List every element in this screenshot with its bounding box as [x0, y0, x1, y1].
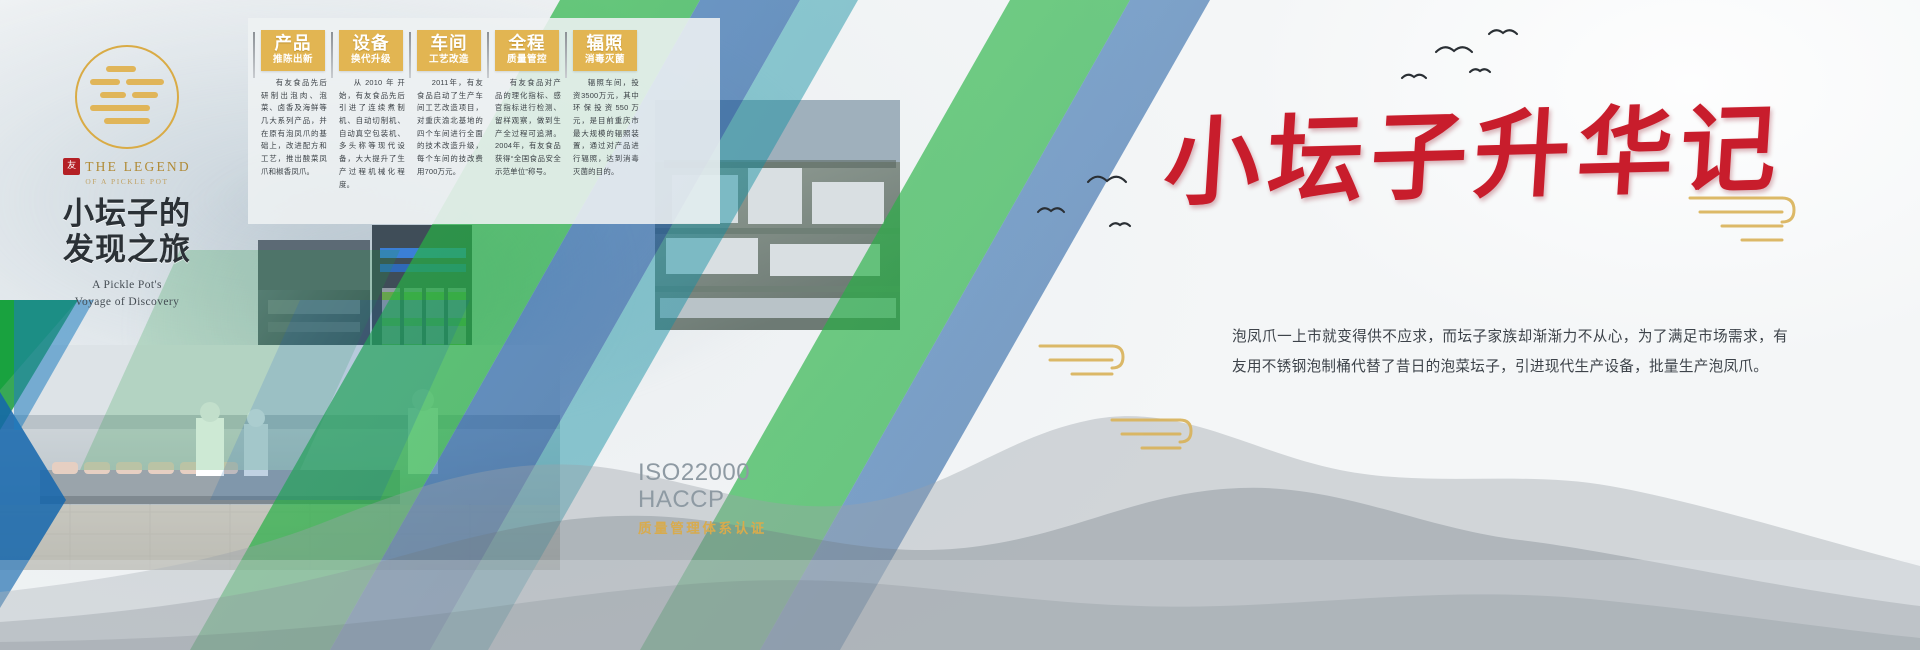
info-column-product: 产品 推陈出新 有友食品先后研制出泡肉、泡菜、卤香及海鲜等几大系列产品，并在原有… — [253, 30, 331, 191]
column-heading: 全程 — [495, 34, 559, 53]
certification-standard-haccp: HACCP — [638, 487, 767, 514]
column-body-text: 有友食品对产品的理化指标、感官指标进行检测、留样观察，做到生产全过程可追溯。20… — [495, 77, 561, 179]
column-subheading: 工艺改造 — [417, 54, 481, 66]
column-header-badge: 全程 质量管控 — [495, 30, 559, 71]
info-column-workshop: 车间 工艺改造 2011年，有友食品启动了生产车间工艺改造项目，对重庆渝北基地的… — [409, 30, 487, 191]
info-columns: 产品 推陈出新 有友食品先后研制出泡肉、泡菜、卤香及海鲜等几大系列产品，并在原有… — [253, 30, 643, 191]
brand-seal-icon: 友 — [63, 158, 80, 175]
certification-caption: 质量管理体系认证 — [638, 517, 767, 537]
column-heading: 产品 — [261, 34, 325, 53]
column-rule — [409, 32, 411, 78]
gold-cloud-swirl-icon-2 — [1040, 346, 1123, 374]
column-subheading: 换代升级 — [339, 54, 403, 66]
page-title-en-line2: Voyage of Discovery — [22, 294, 232, 311]
page-title-cn: 小坛子的 发现之旅 — [22, 196, 232, 268]
column-rule — [331, 32, 333, 78]
column-body-text: 从2010年开始，有友食品先后引进了连续煮制机、自动切制机、自动真空包装机、多头… — [339, 77, 405, 192]
column-subheading: 质量管控 — [495, 54, 559, 66]
column-heading: 设备 — [339, 34, 403, 53]
page-title-cn-line2: 发现之旅 — [22, 232, 232, 268]
legend-en-text: THE LEGEND — [85, 159, 191, 175]
column-body-text: 2011年，有友食品启动了生产车间工艺改造项目，对重庆渝北基地的四个车间进行全面… — [417, 77, 483, 179]
page-title-cn-line1: 小坛子的 — [63, 196, 191, 231]
column-heading: 辐照 — [573, 34, 637, 53]
column-rule — [253, 32, 255, 78]
column-body-text: 有友食品先后研制出泡肉、泡菜、卤香及海鲜等几大系列产品，并在原有泡凤爪的基础上，… — [261, 77, 327, 179]
page-title-en: A Pickle Pot's Voyage of Discovery — [22, 277, 232, 310]
certification-standard-iso: ISO22000 — [638, 460, 767, 487]
column-subheading: 推陈出新 — [261, 54, 325, 66]
info-column-equipment: 设备 换代升级 从2010年开始，有友食品先后引进了连续煮制机、自动切制机、自动… — [331, 30, 409, 191]
pickle-pot-seal-logo — [75, 45, 179, 149]
column-header-badge: 车间 工艺改造 — [417, 30, 481, 71]
column-header-badge: 设备 换代升级 — [339, 30, 403, 71]
column-heading: 车间 — [417, 34, 481, 53]
info-column-quality: 全程 质量管控 有友食品对产品的理化指标、感官指标进行检测、留样观察，做到生产全… — [487, 30, 565, 191]
certification-block: ISO22000 HACCP 质量管理体系认证 — [638, 460, 767, 537]
column-body-text: 辐照车间，投资3500万元，其中环保投资550万元，是目前重庆市最大规模的辐照装… — [573, 77, 639, 179]
column-rule — [487, 32, 489, 78]
column-header-badge: 辐照 消毒灭菌 — [573, 30, 637, 71]
brand-logo-block: 友 THE LEGEND OF A PICKLE POT 小坛子的 发现之旅 A… — [22, 45, 232, 310]
legend-wordmark: 友 THE LEGEND — [22, 158, 232, 175]
logo-bar-glyph — [88, 66, 166, 128]
info-column-irradiation: 辐照 消毒灭菌 辐照车间，投资3500万元，其中环保投资550万元，是目前重庆市… — [565, 30, 643, 191]
poster-canvas: 友 THE LEGEND OF A PICKLE POT 小坛子的 发现之旅 A… — [0, 0, 1920, 650]
column-header-badge: 产品 推陈出新 — [261, 30, 325, 71]
body-paragraph: 泡凤爪一上市就变得供不应求，而坛子家族却渐渐力不从心，为了满足市场需求，有友用不… — [1232, 322, 1788, 383]
headline-text: 小坛子升华记 — [1161, 100, 1786, 211]
headline-calligraphy: 小坛子升华记 — [1165, 108, 1805, 233]
column-subheading: 消毒灭菌 — [573, 54, 637, 66]
legend-sub-en-text: OF A PICKLE POT — [22, 177, 232, 186]
page-title-en-line1: A Pickle Pot's — [22, 277, 232, 294]
column-rule — [565, 32, 567, 78]
